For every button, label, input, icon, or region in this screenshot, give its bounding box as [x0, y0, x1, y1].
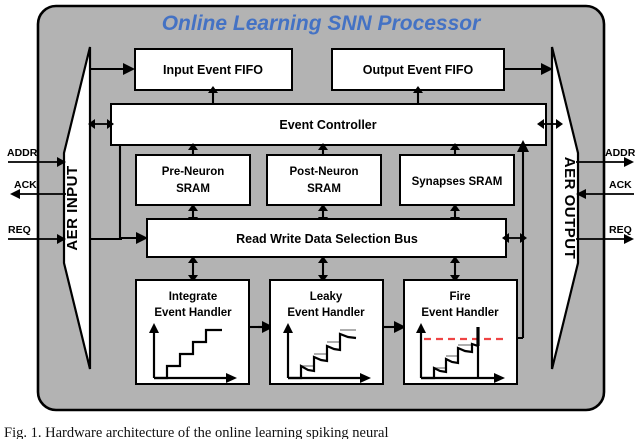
- block-integrate-event-handler-label-1: Integrate: [169, 291, 218, 303]
- block-event-controller-label: Event Controller: [279, 118, 376, 132]
- block-pre-neuron-sram-label-1: Pre-Neuron: [162, 166, 225, 178]
- block-synapses-sram-label: Synapses SRAM: [412, 176, 503, 188]
- block-leaky-event-handler-label-1: Leaky: [310, 291, 343, 303]
- page-title: Online Learning SNN Processor: [162, 12, 482, 35]
- block-leaky-event-handler-label-2: Event Handler: [287, 307, 365, 319]
- port-right-addr-label: ADDR: [605, 147, 636, 159]
- block-output-event-fifo-label: Output Event FIFO: [363, 63, 474, 77]
- block-post-neuron-sram[interactable]: [267, 155, 381, 205]
- block-pre-neuron-sram[interactable]: [136, 155, 250, 205]
- block-fire-event-handler-label-2: Event Handler: [421, 307, 499, 319]
- figure-caption: Fig. 1. Hardware architecture of the onl…: [4, 425, 389, 439]
- aer-input-label: AER INPUT: [64, 165, 81, 250]
- port-left-ack-label: ACK: [14, 179, 37, 191]
- block-pre-neuron-sram-label-2: SRAM: [176, 183, 210, 195]
- port-right-ack-label: ACK: [609, 179, 632, 191]
- aer-output-label: AER OUTPUT: [561, 157, 578, 260]
- block-integrate-event-handler-label-2: Event Handler: [154, 307, 232, 319]
- block-post-neuron-sram-label-1: Post-Neuron: [290, 166, 359, 178]
- block-read-write-data-selection-bus-label: Read Write Data Selection Bus: [236, 232, 418, 246]
- block-post-neuron-sram-label-2: SRAM: [307, 183, 341, 195]
- port-left-req-label: REQ: [8, 224, 31, 236]
- figure-container: Online Learning SNN Processor AER INPUT …: [0, 0, 640, 439]
- port-left-addr-label: ADDR: [7, 147, 38, 159]
- block-fire-event-handler-label-1: Fire: [449, 291, 470, 303]
- port-right-req-label: REQ: [609, 224, 632, 236]
- block-input-event-fifo-label: Input Event FIFO: [163, 63, 263, 77]
